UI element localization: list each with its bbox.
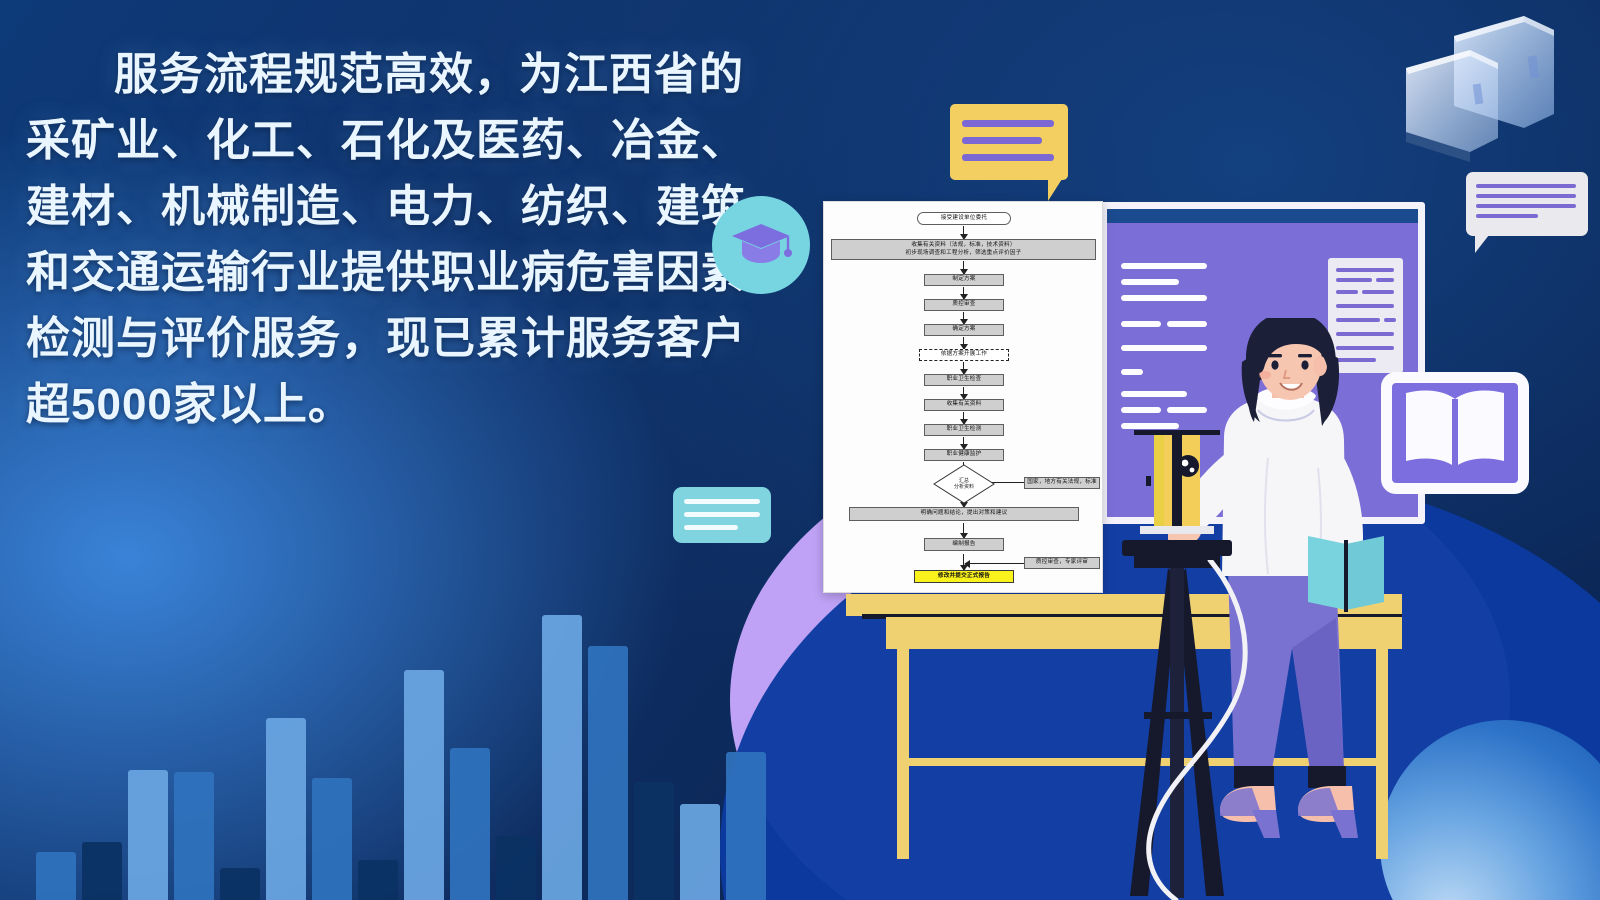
flow-node: 收集有关资料（法规，标准，技术资料） 初步现场调查和工程分析，筛选重点评价因子 [831, 239, 1096, 260]
poster-line [1362, 290, 1394, 294]
bubble-line [1476, 184, 1576, 188]
flow-node: 收集有关资料 [924, 399, 1004, 411]
flow-node: 职业卫生检查 [924, 374, 1004, 386]
bubble-line [962, 137, 1042, 144]
note-card-icon-teal [673, 487, 771, 543]
flow-arrow [963, 226, 964, 239]
flow-arrow [963, 287, 964, 299]
power-cable [1060, 560, 1280, 900]
flow-node: 制定方案 [924, 274, 1004, 286]
flow-node-label: 汇总 分析资料 [933, 464, 995, 504]
flow-arrow [963, 437, 964, 449]
board-line [1121, 295, 1207, 301]
bubble-line [962, 154, 1054, 161]
flow-arrow [963, 261, 964, 274]
chart-bar [496, 836, 536, 900]
board-top-bar [1107, 209, 1418, 223]
bubble-line [1476, 214, 1538, 218]
chart-bar [36, 852, 76, 900]
flow-arrow-side [965, 563, 1025, 564]
poster-line [1376, 278, 1394, 282]
chart-bar [266, 718, 306, 900]
chart-bar [542, 615, 582, 900]
flow-node: 依据方案开展工作 [919, 349, 1009, 361]
background-bar-chart [0, 480, 760, 900]
chart-bar [404, 670, 444, 900]
poster-line [1336, 304, 1394, 308]
card-line [684, 499, 760, 504]
flow-arrow [963, 523, 964, 538]
graduation-cap-badge [712, 196, 810, 294]
chart-bar [220, 868, 260, 900]
board-line [1121, 407, 1161, 413]
flow-node: 质控审查 [924, 299, 1004, 311]
flow-node-highlight: 修改并提交正式报告 [914, 570, 1014, 583]
stacked-books-icon [1378, 6, 1598, 186]
bubble-line [962, 120, 1054, 127]
chart-bar [588, 646, 628, 900]
flow-arrow [963, 312, 964, 324]
board-line [1121, 369, 1143, 375]
flow-arrow [963, 387, 964, 399]
flow-node: 职业健康监护 [924, 449, 1004, 461]
flow-node: 职业卫生检测 [924, 424, 1004, 436]
card-line [684, 525, 738, 530]
bubble-line [1476, 194, 1576, 198]
poster-line [1336, 290, 1358, 294]
chart-bar [128, 770, 168, 900]
graduation-cap-icon [730, 220, 792, 271]
chart-bar [312, 778, 352, 900]
chart-bar [358, 860, 398, 900]
bubble-line [1476, 204, 1576, 208]
flow-arrow [963, 412, 964, 424]
chart-bar [726, 752, 766, 900]
desk-leg-left [897, 647, 909, 859]
speech-bubble-icon-yellow [950, 104, 1068, 180]
page-headline: 服务流程规范高效，为江西省的采矿业、化工、石化及医药、冶金、建材、机械制造、电力… [26, 42, 766, 438]
poster-line [1336, 268, 1394, 272]
board-line [1121, 279, 1179, 285]
flow-node: 国家，地方有关法规，标准 [1024, 477, 1100, 489]
flow-arrow [963, 362, 964, 374]
headline-text: 服务流程规范高效，为江西省的采矿业、化工、石化及医药、冶金、建材、机械制造、电力… [26, 42, 766, 438]
flow-node-decision: 汇总 分析资料 [933, 464, 995, 504]
chart-bar [174, 772, 214, 900]
flow-node: 接受建设单位委托 [917, 212, 1011, 225]
chart-bar [634, 782, 674, 900]
board-line [1121, 263, 1207, 269]
flow-node: 编制报告 [924, 538, 1004, 551]
workflow-flowchart-panel: 接受建设单位委托 收集有关资料（法规，标准，技术资料） 初步现场调查和工程分析，… [823, 201, 1103, 593]
chart-bar [82, 842, 122, 900]
flow-node: 明确问题和结论，提出对策和建议 [849, 507, 1079, 521]
chart-bar [680, 804, 720, 900]
chart-bar [450, 748, 490, 900]
board-line [1121, 321, 1161, 327]
poster-line [1336, 278, 1372, 282]
card-line [684, 512, 760, 517]
flow-node: 确定方案 [924, 324, 1004, 336]
flow-arrow [963, 337, 964, 349]
poster-canvas: 服务流程规范高效，为江西省的采矿业、化工、石化及医药、冶金、建材、机械制造、电力… [0, 0, 1600, 900]
speech-bubble-icon-white [1466, 172, 1588, 236]
